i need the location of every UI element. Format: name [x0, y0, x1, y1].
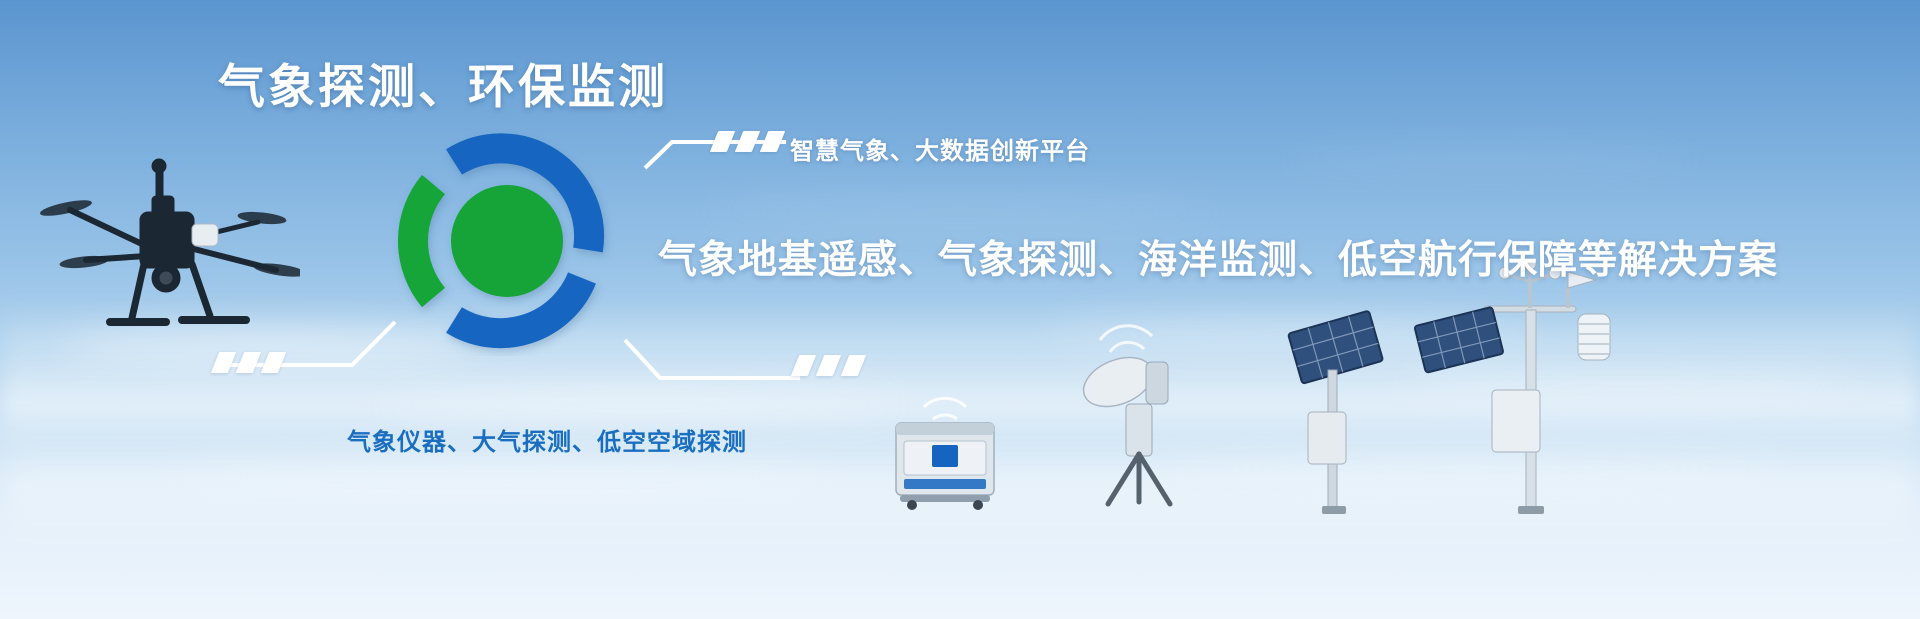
- drone-propeller: [254, 261, 300, 278]
- cabinet-wheel: [907, 500, 917, 510]
- mobile-lidar-cabinet: [880, 385, 1010, 510]
- dish-pedestal-box: [1126, 404, 1152, 456]
- dash-bar-icon: [760, 131, 785, 152]
- drone-leg: [192, 264, 210, 316]
- station-solar-panel: [1414, 307, 1503, 373]
- dash-bars-top: [714, 131, 784, 153]
- drone-sensor-pod: [192, 224, 218, 246]
- tagline-main: 气象地基遥感、气象探测、海洋监测、低空航行保障等解决方案: [658, 229, 1778, 285]
- donut-ring-graphic: [392, 126, 622, 356]
- drone-propeller: [60, 255, 109, 270]
- tagline-top: 智慧气象、大数据创新平台: [790, 131, 1090, 166]
- dash-bars-left: [215, 352, 285, 374]
- cloud-wisp: [150, 462, 850, 492]
- signal-wave-arc: [1110, 342, 1144, 352]
- drone-arm: [70, 210, 142, 244]
- radiation-shield: [1578, 314, 1610, 360]
- cabinet-top-lid: [896, 423, 994, 435]
- tagline-bottom: 气象仪器、大气探测、低空空域探测: [347, 422, 747, 457]
- station-enclosure: [1492, 390, 1540, 452]
- dish-feed-module: [1146, 362, 1168, 404]
- cloud-wisp: [700, 200, 1220, 222]
- drone-body: [140, 212, 194, 268]
- dash-bar-icon: [236, 352, 261, 373]
- dash-bar-icon: [841, 355, 866, 376]
- donut-segment-green: [413, 185, 434, 298]
- donut-core-circle: [451, 185, 563, 297]
- drone-antenna-top: [152, 159, 166, 173]
- cabinet-wheel: [973, 500, 983, 510]
- automatic-weather-station: [1400, 262, 1620, 517]
- equipment-enclosure: [1308, 412, 1346, 464]
- dash-bar-icon: [791, 355, 816, 376]
- tripod-satellite-dish: [1060, 318, 1210, 513]
- dash-bar-icon: [735, 131, 760, 152]
- banner-stage: 气象探测、环保监测 智慧气象、大数据创新平台 气象地基遥感、气象探测、海洋监测、…: [0, 0, 1920, 619]
- dash-bars-right: [795, 355, 865, 377]
- signal-wave-arc: [933, 415, 957, 419]
- tripod-leg: [1139, 454, 1170, 504]
- signal-wave-arc: [1100, 326, 1152, 340]
- cloud-wisp: [380, 392, 900, 418]
- drone-top-module: [152, 196, 174, 216]
- uav-drone: [40, 152, 300, 342]
- signal-wave-arc: [924, 398, 966, 407]
- drone-camera-lens: [159, 271, 173, 285]
- tripod-leg: [1108, 454, 1139, 504]
- drone-leg: [132, 264, 144, 318]
- post-base: [1322, 506, 1346, 514]
- dash-bar-icon: [710, 131, 735, 152]
- page-title: 气象探测、环保监测: [218, 48, 668, 117]
- dash-bar-icon: [816, 355, 841, 376]
- dash-bar-icon: [261, 352, 286, 373]
- dash-bar-icon: [211, 352, 236, 373]
- cabinet-label-strip: [904, 479, 986, 489]
- cabinet-logo-plate: [932, 445, 958, 467]
- solar-panel-post: [1270, 300, 1400, 515]
- station-base: [1518, 506, 1544, 514]
- cloud-wisp: [1280, 150, 1700, 168]
